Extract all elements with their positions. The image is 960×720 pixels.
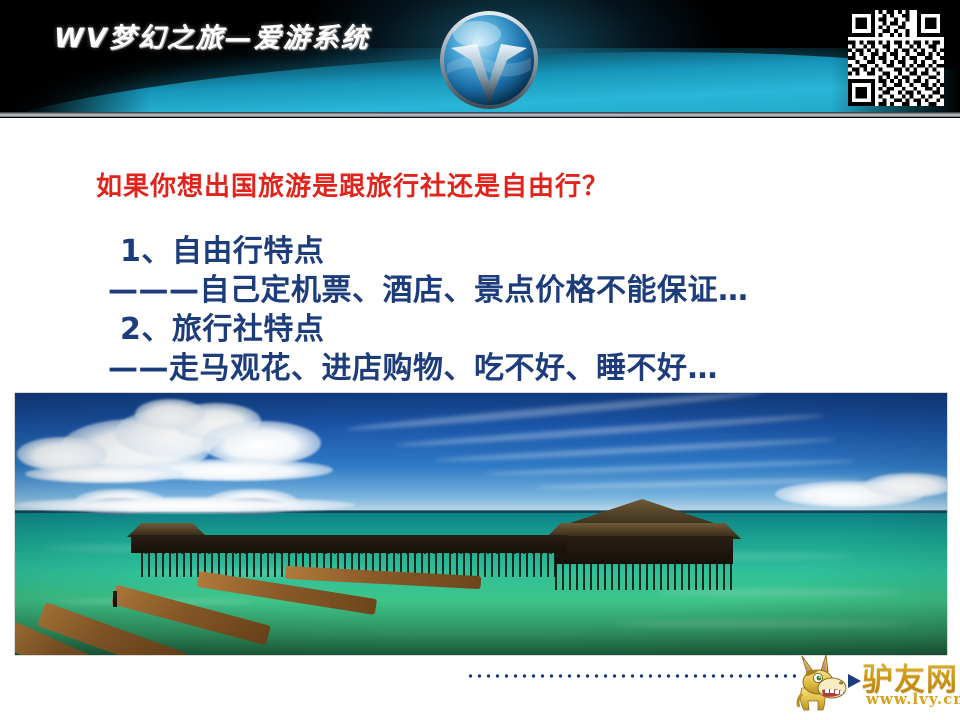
body-line-3: 2、旅行社特点	[108, 310, 908, 349]
brand-url: www.lvy.cn	[866, 690, 960, 708]
tropical-resort-photo	[14, 392, 948, 656]
site-watermark: 驴友网 www.lvy.cn	[792, 652, 960, 718]
header-divider	[0, 112, 960, 117]
header-title: WV梦幻之旅—爱游系统	[54, 16, 370, 55]
body-line-4: ——走马观花、进店购物、吃不好、睡不好…	[108, 349, 908, 388]
body-line-2: ———自己定机票、酒店、景点价格不能保证…	[108, 271, 908, 310]
header-banner: WV梦幻之旅—爱游系统	[0, 0, 960, 118]
slide-canvas: WV梦幻之旅—爱游系统	[0, 0, 960, 720]
donkey-mascot-icon	[792, 654, 854, 716]
play-arrow-icon	[848, 674, 861, 688]
page-headline: 如果你想出国旅游是跟旅行社还是自由行？	[96, 166, 609, 203]
body-text-block: 1、自由行特点 ———自己定机票、酒店、景点价格不能保证… 2、旅行社特点 ——…	[108, 232, 908, 388]
decorative-dotted-line	[466, 674, 796, 678]
wv-sphere-emblem-icon	[437, 8, 541, 112]
body-line-1: 1、自由行特点	[108, 232, 908, 271]
qr-code-icon	[848, 10, 944, 106]
